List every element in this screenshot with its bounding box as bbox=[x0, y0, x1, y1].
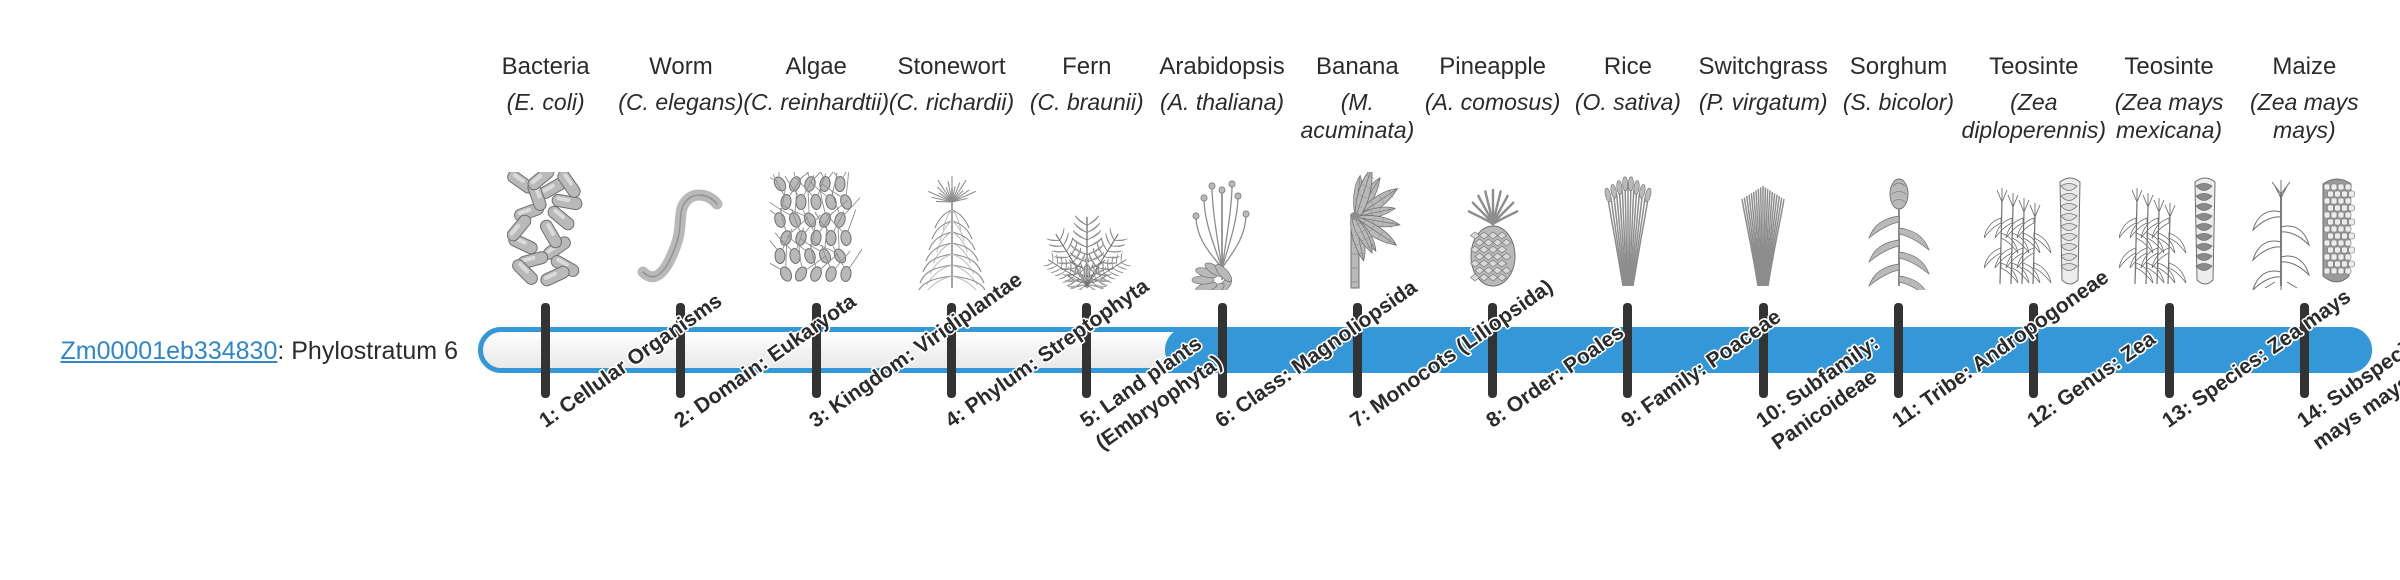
species-column-banana: Banana(M. acuminata) bbox=[1282, 52, 1432, 144]
phylostratigraphy-figure: Zm00001eb334830: Phylostratum 6 Bacteria… bbox=[0, 0, 2400, 580]
gene-phylostratum-label: Zm00001eb334830: Phylostratum 6 bbox=[38, 336, 458, 366]
species-column-fern: Fern(C. braunii) bbox=[1012, 52, 1162, 116]
species-common-name: Teosinte bbox=[2094, 52, 2244, 82]
species-scientific-name: (Zea mays mays) bbox=[2229, 88, 2379, 144]
species-scientific-name: (Zea diploperennis) bbox=[1959, 88, 2109, 144]
species-scientific-name: (O. sativa) bbox=[1553, 88, 1703, 116]
species-column-teosinte: Teosinte(Zea diploperennis) bbox=[1959, 52, 2109, 144]
species-column-teosinte: Teosinte(Zea mays mexicana) bbox=[2094, 52, 2244, 144]
species-common-name: Worm bbox=[606, 52, 756, 82]
species-column-switchgrass: Switchgrass(P. virgatum) bbox=[1688, 52, 1838, 116]
species-scientific-name: (Zea mays mexicana) bbox=[2094, 88, 2244, 144]
species-scientific-name: (A. comosus) bbox=[1418, 88, 1568, 116]
species-scientific-name: (P. virgatum) bbox=[1688, 88, 1838, 116]
species-column-rice: Rice(O. sativa) bbox=[1553, 52, 1703, 116]
species-common-name: Maize bbox=[2229, 52, 2379, 82]
species-scientific-name: (M. acuminata) bbox=[1282, 88, 1432, 144]
phylostratum-text: : Phylostratum 6 bbox=[277, 337, 458, 365]
species-common-name: Algae bbox=[741, 52, 891, 82]
phylostratum-tick-1 bbox=[541, 303, 550, 398]
gene-id-link[interactable]: Zm00001eb334830 bbox=[61, 337, 278, 365]
species-column-pineapple: Pineapple(A. comosus) bbox=[1418, 52, 1568, 116]
species-column-stonewort: Stonewort(C. richardii) bbox=[877, 52, 1027, 116]
species-common-name: Sorghum bbox=[1824, 52, 1974, 82]
species-column-bacteria: Bacteria(E. coli) bbox=[471, 52, 621, 116]
species-common-name: Stonewort bbox=[877, 52, 1027, 82]
species-common-name: Fern bbox=[1012, 52, 1162, 82]
species-common-name: Banana bbox=[1282, 52, 1432, 82]
species-scientific-name: (C. reinhardtii) bbox=[741, 88, 891, 116]
species-scientific-name: (C. elegans) bbox=[606, 88, 756, 116]
species-common-name: Bacteria bbox=[471, 52, 621, 82]
species-common-name: Rice bbox=[1553, 52, 1703, 82]
species-column-sorghum: Sorghum(S. bicolor) bbox=[1824, 52, 1974, 116]
species-column-worm: Worm(C. elegans) bbox=[606, 52, 756, 116]
species-scientific-name: (E. coli) bbox=[471, 88, 621, 116]
species-common-name: Arabidopsis bbox=[1147, 52, 1297, 82]
species-column-arabidopsis: Arabidopsis(A. thaliana) bbox=[1147, 52, 1297, 116]
species-scientific-name: (C. richardii) bbox=[877, 88, 1027, 116]
species-column-algae: Algae(C. reinhardtii) bbox=[741, 52, 891, 116]
species-common-name: Switchgrass bbox=[1688, 52, 1838, 82]
species-scientific-name: (S. bicolor) bbox=[1824, 88, 1974, 116]
species-scientific-name: (A. thaliana) bbox=[1147, 88, 1297, 116]
species-scientific-name: (C. braunii) bbox=[1012, 88, 1162, 116]
species-column-maize: Maize(Zea mays mays) bbox=[2229, 52, 2379, 144]
species-common-name: Teosinte bbox=[1959, 52, 2109, 82]
species-common-name: Pineapple bbox=[1418, 52, 1568, 82]
